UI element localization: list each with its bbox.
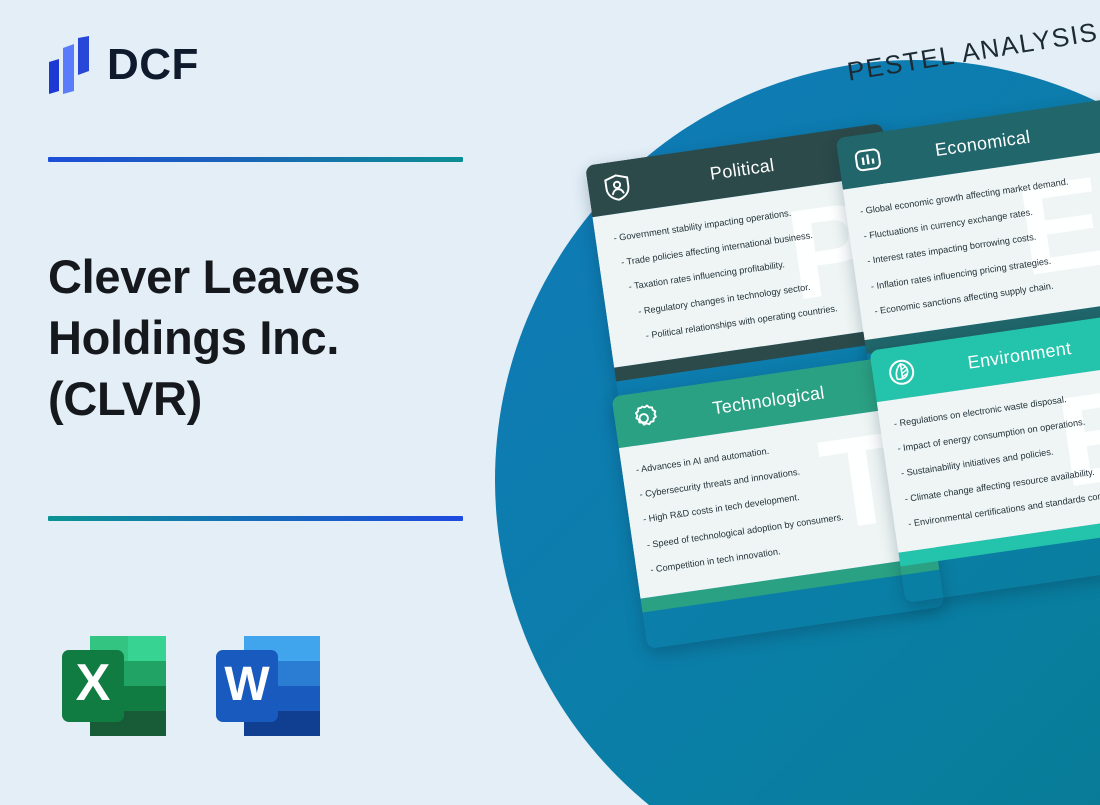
excel-file-icon[interactable]: X bbox=[48, 620, 180, 752]
dcf-bars-logo-icon bbox=[47, 36, 93, 94]
divider-top bbox=[48, 157, 463, 162]
gear-icon bbox=[627, 401, 661, 435]
page-title-line-1: Clever Leaves bbox=[48, 250, 360, 303]
left-panel: DCF Clever Leaves Holdings Inc. (CLVR) X bbox=[0, 0, 560, 805]
svg-text:W: W bbox=[224, 658, 270, 711]
svg-text:X: X bbox=[76, 654, 111, 712]
page-root: PESTEL ANALYSIS Political P - Government… bbox=[0, 0, 1100, 805]
divider-bottom bbox=[48, 516, 463, 521]
page-title-line-3: (CLVR) bbox=[48, 372, 202, 425]
word-file-icon[interactable]: W bbox=[202, 620, 334, 752]
brand-logo[interactable]: DCF bbox=[47, 36, 199, 94]
page-title-line-2: Holdings Inc. bbox=[48, 311, 339, 364]
pestel-card-environment[interactable]: Environment E - Regulations on electroni… bbox=[869, 310, 1100, 603]
brand-name: DCF bbox=[107, 43, 199, 87]
shield-person-icon bbox=[600, 170, 634, 204]
bullet-list-technological: - Advances in AI and automation. - Cyber… bbox=[635, 427, 918, 574]
download-icons: X W bbox=[48, 620, 334, 752]
leaf-circle-icon bbox=[885, 355, 919, 389]
page-title: Clever Leaves Holdings Inc. (CLVR) bbox=[48, 246, 478, 429]
bar-chart-icon bbox=[851, 143, 885, 177]
